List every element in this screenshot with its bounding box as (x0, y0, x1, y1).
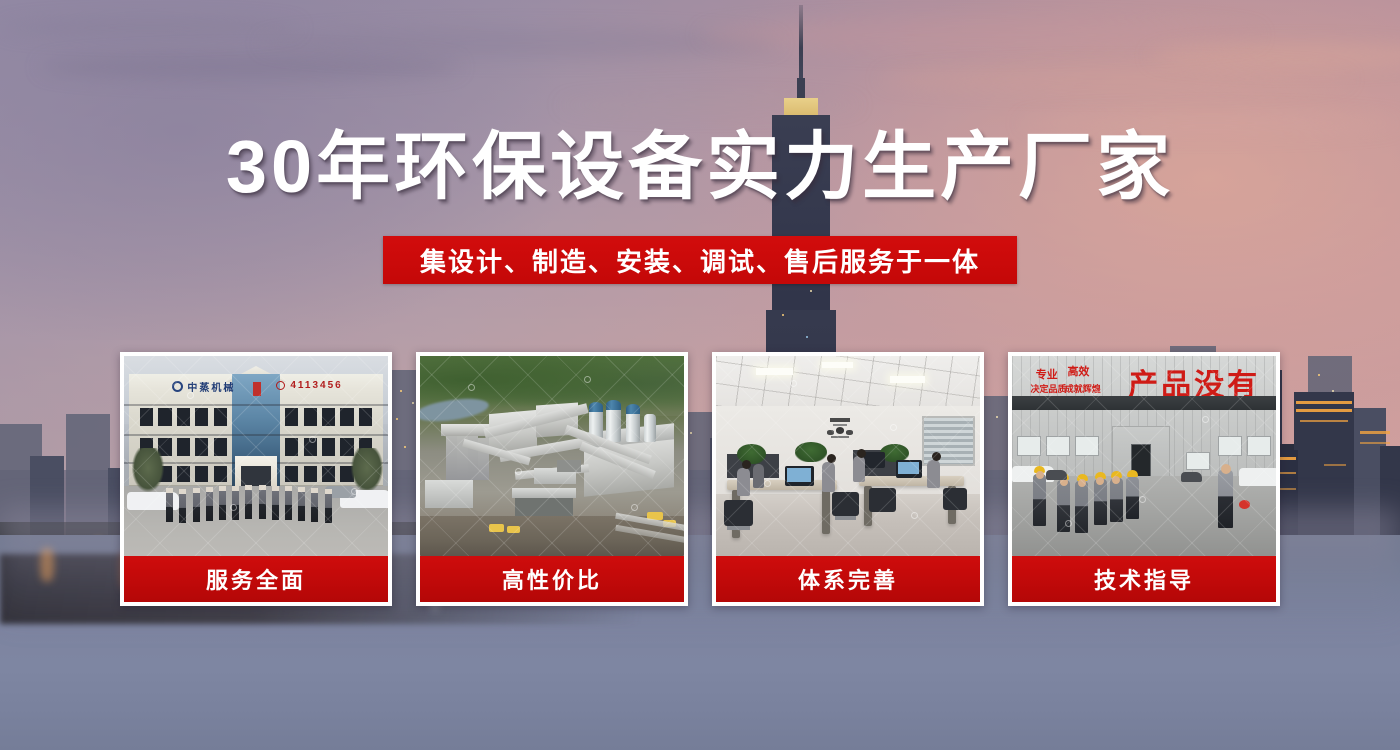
wall-slogan-2: 高效 (1067, 363, 1089, 379)
subtitle-banner: 集设计、制造、安装、调试、售后服务于一体 (383, 236, 1017, 284)
feature-card[interactable]: 产品没有 专业 高效 决定品质 成就辉煌 (1008, 352, 1280, 606)
page-title: 30年环保设备实力生产厂家 (0, 128, 1400, 206)
card-caption: 技术指导 (1012, 556, 1276, 602)
card-photo-office-interior (716, 356, 980, 556)
feature-card[interactable]: 体系完善 (712, 352, 984, 606)
company-logo-icon (172, 381, 183, 392)
card-photo-industrial-plant (420, 356, 684, 556)
card-caption: 高性价比 (420, 556, 684, 602)
feature-card[interactable]: 中蒸机械 4113456 (120, 352, 392, 606)
feature-card-list: 中蒸机械 4113456 (120, 352, 1280, 606)
wall-slogan-4: 成就辉煌 (1065, 382, 1101, 395)
office-window (922, 416, 975, 466)
wall-decal (822, 418, 859, 444)
wall-slogan-1: 专业 (1036, 366, 1058, 382)
feature-card[interactable]: 高性价比 (416, 352, 688, 606)
card-photo-headquarters: 中蒸机械 4113456 (124, 356, 388, 556)
red-helmet-icon (1239, 500, 1250, 509)
card-caption: 服务全面 (124, 556, 388, 602)
hero-banner: 30年环保设备实力生产厂家 集设计、制造、安装、调试、售后服务于一体 (0, 0, 1400, 750)
wall-slogan-3: 决定品质 (1030, 382, 1066, 395)
card-photo-factory-workers: 产品没有 专业 高效 决定品质 成就辉煌 (1012, 356, 1276, 556)
subtitle-text: 集设计、制造、安装、调试、售后服务于一体 (420, 242, 980, 279)
phone-number-text: 4113456 (290, 380, 342, 391)
company-sign-text: 中蒸机械 (187, 379, 235, 394)
card-caption: 体系完善 (716, 556, 980, 602)
phone-icon (276, 381, 285, 390)
